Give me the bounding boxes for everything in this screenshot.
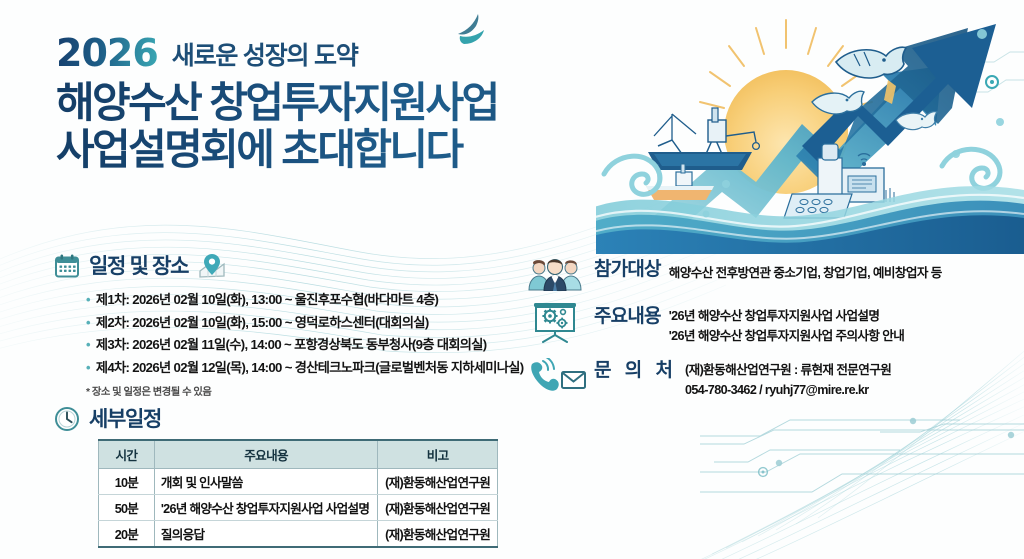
col-header-org: 비고: [378, 440, 498, 469]
data-dots-icon: [703, 29, 1005, 218]
circuit-traces-top: [952, 52, 1024, 92]
sun-icon: [724, 70, 848, 194]
cell-topic: 개회 및 인사말씀: [154, 469, 377, 495]
fish-icon-1: [836, 47, 906, 78]
bullet-marker: •: [86, 312, 90, 334]
target-line-1: 해양수산 전후방연관 중소기업, 창업기업, 예비창업자 등: [669, 264, 1024, 284]
info-body-target: 해양수산 전후방연관 중소기업, 창업기업, 예비창업자 등: [669, 256, 1024, 284]
info-label-target: 참가대상: [594, 256, 661, 282]
kicker-label: 새로운 성장의 도약: [172, 44, 358, 72]
info-body-content: '26년 해양수산 창업투자지원사업 사업설명 '26년 해양수산 창업투자지원…: [669, 303, 1024, 346]
schedule-item-text: 제3차: 2026년 02월 11일(수), 14:00 ~ 포항경상북도 동부…: [96, 334, 487, 357]
clock-icon: [54, 406, 80, 432]
info-body-contact: (재)환동해산업연구원 : 류현재 전문연구원 054-780-3462 / r…: [685, 357, 1024, 400]
cell-time: 50분: [99, 495, 155, 521]
calendar-icon: [54, 253, 80, 279]
schedule-section: 일정 및 장소 • 제1차: 2026년 02월 10일(화), 13:00 ~…: [54, 252, 554, 398]
table-row: 20분 질의응답 (재)환동해산업연구원: [99, 521, 498, 548]
info-row-content: 주요내용 '26년 해양수산 창업투자지원사업 사업설명 '26년 해양수산 창…: [524, 303, 1024, 346]
title-line-2: 사업설명회에 초대합니다: [56, 126, 676, 173]
schedule-item-text: 제1차: 2026년 02월 10일(화), 13:00 ~ 울진후포수협(바다…: [96, 289, 438, 312]
cell-topic: 질의응답: [154, 521, 377, 548]
growth-arrow-dark-icon: [796, 28, 968, 188]
cell-time: 20분: [99, 521, 155, 548]
poster-canvas: 2026 새로운 성장의 도약 해양수산 창업투자지원사업 사업설명회에 초대합…: [0, 0, 1024, 559]
sun-rays-icon: [700, 20, 872, 108]
circuit-nodes: [776, 418, 1014, 466]
list-item: • 제2차: 2026년 02월 10일(화), 15:00 ~ 영덕로하스센터…: [86, 312, 554, 335]
detail-heading-row: 세부일정: [54, 406, 534, 432]
schedule-list: • 제1차: 2026년 02월 10일(화), 13:00 ~ 울진후포수협(…: [86, 289, 554, 380]
table-row: 10분 개회 및 인사말씀 (재)환동해산업연구원: [99, 469, 498, 495]
smart-aquaculture-icon: [784, 144, 894, 218]
bullet-marker: •: [86, 289, 90, 311]
growth-arrow-head-icon: [802, 24, 996, 162]
cell-topic: '26년 해양수산 창업투자지원사업 사업설명: [154, 495, 377, 521]
map-pin-icon: [197, 252, 227, 280]
circuit-ring-node: [759, 468, 768, 477]
page-title: 해양수산 창업투자지원사업 사업설명회에 초대합니다: [56, 79, 676, 173]
table-header-row: 시간 주요내용 비고: [99, 440, 498, 469]
cell-org: (재)환동해산업연구원: [378, 469, 498, 495]
schedule-heading: 일정 및 장소: [89, 256, 188, 277]
title-line-1: 해양수산 창업투자지원사업: [56, 79, 498, 126]
people-group-icon: [524, 256, 586, 292]
bullet-marker: •: [86, 334, 90, 356]
envelope-icon: [562, 372, 585, 388]
bird-leaf-icon: [448, 12, 494, 56]
detail-heading: 세부일정: [89, 409, 161, 430]
cell-time: 10분: [99, 469, 155, 495]
detail-schedule-table: 시간 주요내용 비고 10분 개회 및 인사말씀 (재)환동해산업연구원 50분…: [98, 439, 498, 548]
small-arrow-icon: [884, 80, 896, 104]
fish-icon-2: [812, 91, 864, 114]
col-header-time: 시간: [99, 440, 155, 469]
cell-org: (재)환동해산업연구원: [378, 521, 498, 548]
headline-block: 2026 새로운 성장의 도약 해양수산 창업투자지원사업 사업설명회에 초대합…: [56, 34, 676, 173]
col-header-topic: 주요내용: [154, 440, 377, 469]
bullet-marker: •: [86, 357, 90, 379]
detail-schedule-section: 세부일정 시간 주요내용 비고 10분 개회 및 인사말씀 (재)환동해산업연구…: [54, 406, 534, 548]
content-line-2: '26년 해양수산 창업투자지원사업 주의사항 안내: [669, 327, 1024, 347]
phone-signal-waves: [543, 358, 554, 370]
presentation-gears-icon: [524, 303, 586, 339]
list-item: • 제4차: 2026년 02월 12일(목), 14:00 ~ 경산테크노파크…: [86, 357, 554, 380]
growth-arrow-icon: [654, 66, 942, 236]
year-label: 2026: [56, 34, 158, 72]
circuit-traces: [700, 420, 1024, 492]
schedule-item-text: 제2차: 2026년 02월 10일(화), 15:00 ~ 영덕로하스센터(대…: [96, 312, 429, 335]
fish-icon-3: [896, 112, 937, 130]
info-row-target: 참가대상 해양수산 전후방연관 중소기업, 창업기업, 예비창업자 등: [524, 256, 1024, 292]
content-line-1: '26년 해양수산 창업투자지원사업 사업설명: [669, 307, 1024, 327]
list-item: • 제1차: 2026년 02월 10일(화), 13:00 ~ 울진후포수협(…: [86, 289, 554, 312]
info-row-contact: 문 의 처 (재)환동해산업연구원 : 류현재 전문연구원 054-780-34…: [524, 357, 1024, 400]
kicker-row: 2026 새로운 성장의 도약: [56, 34, 676, 72]
table-row: 50분 '26년 해양수산 창업투자지원사업 사업설명 (재)환동해산업연구원: [99, 495, 498, 521]
schedule-item-text: 제4차: 2026년 02월 12일(목), 14:00 ~ 경산테크노파크(글…: [96, 357, 524, 380]
wifi-icon: [858, 154, 870, 166]
contact-line-2: 054-780-3462 / ryuhj77@mire.re.kr: [685, 381, 1024, 401]
schedule-note: * 장소 및 일정은 변경될 수 있음: [86, 383, 554, 398]
info-section: 참가대상 해양수산 전후방연관 중소기업, 창업기업, 예비창업자 등: [524, 256, 1024, 400]
info-label-content: 주요내용: [594, 303, 661, 329]
schedule-heading-row: 일정 및 장소: [54, 252, 554, 280]
info-label-contact: 문 의 처: [594, 357, 677, 383]
cell-org: (재)환동해산업연구원: [378, 495, 498, 521]
contact-line-1: (재)환동해산업연구원 : 류현재 전문연구원: [685, 361, 1024, 381]
contact-icons: [524, 357, 586, 393]
list-item: • 제3차: 2026년 02월 11일(수), 14:00 ~ 포항경상북도 …: [86, 334, 554, 357]
